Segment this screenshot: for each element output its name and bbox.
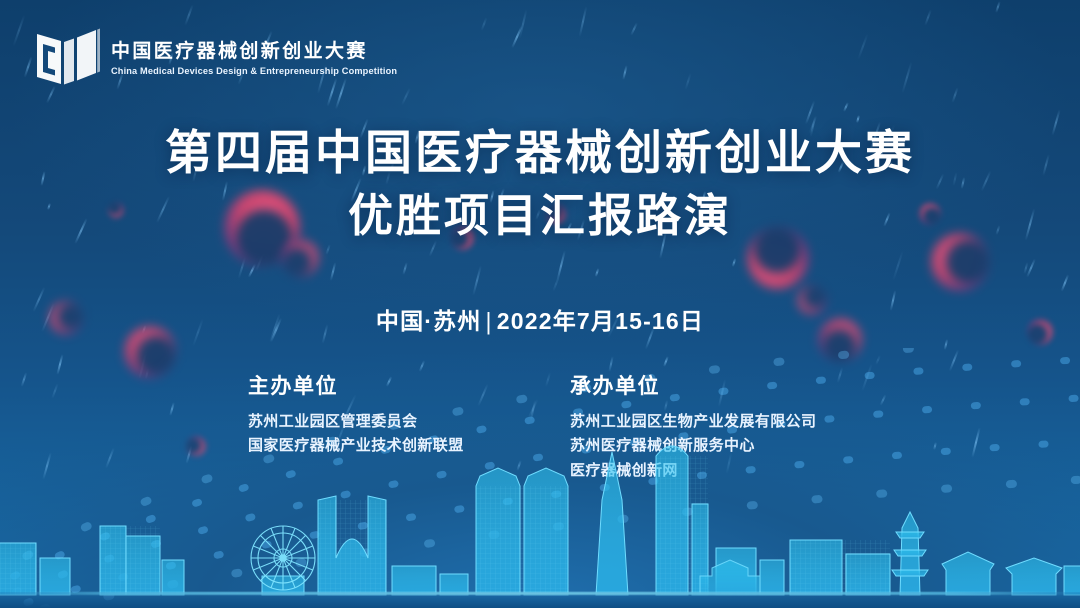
light-streak: [856, 115, 860, 123]
light-streak: [472, 265, 482, 296]
light-streak: [1024, 262, 1029, 274]
light-streak: [518, 9, 527, 39]
light-streak: [684, 73, 691, 90]
light-streak: [329, 262, 336, 281]
light-streak: [843, 102, 849, 112]
light-streak: [951, 87, 958, 103]
bottom-glow: [0, 592, 1080, 608]
organizer-heading: 承办单位: [570, 370, 850, 400]
light-streak: [995, 1, 1000, 13]
light-streak: [892, 250, 903, 280]
light-streak: [255, 241, 269, 271]
light-streak: [24, 56, 33, 78]
light-streak: [238, 257, 247, 280]
light-streak: [804, 100, 815, 125]
light-streak: [248, 264, 256, 278]
light-streak: [556, 250, 566, 282]
event-poster: 中国医疗器械创新创业大赛 China Medical Devices Desig…: [0, 0, 1080, 608]
light-streak: [1026, 259, 1036, 278]
open-book-door-logo-icon: [34, 28, 100, 90]
light-streak: [578, 6, 587, 37]
competition-logo: 中国医疗器械创新创业大赛 China Medical Devices Desig…: [34, 28, 406, 90]
event-date-location: 中国·苏州|2022年7月15-16日: [0, 302, 1080, 336]
light-streak: [402, 262, 408, 275]
light-streak: [595, 268, 600, 278]
organizer-heading: 主办单位: [248, 370, 540, 400]
logo-title-cn: 中国医疗器械创新创业大赛: [111, 41, 406, 63]
light-streak: [857, 34, 868, 60]
event-separator: |: [486, 307, 493, 335]
event-location: 中国·苏州: [376, 308, 482, 334]
logo-title-en: China Medical Devices Design & Entrepren…: [111, 66, 397, 77]
light-streak: [13, 15, 26, 47]
light-streak: [326, 244, 332, 255]
light-streak: [184, 5, 193, 26]
title-line-1: 第四届中国医疗器械创新创业大赛: [0, 124, 1080, 181]
light-streak: [924, 9, 932, 26]
ferris-wheel-icon: [251, 526, 315, 590]
light-streak: [901, 61, 912, 93]
event-date: 2022年7月15-16日: [497, 308, 704, 334]
light-streak: [732, 258, 737, 267]
light-streak: [480, 17, 487, 31]
light-streak: [1061, 274, 1069, 291]
light-streak: [552, 276, 560, 292]
light-streak: [623, 65, 628, 80]
light-streak: [511, 25, 523, 48]
light-streak: [630, 22, 638, 36]
title-line-2: 优胜项目汇报路演: [0, 189, 1080, 244]
page-title: 第四届中国医疗器械创新创业大赛 优胜项目汇报路演: [0, 124, 1080, 244]
suzhou-city-skyline: [0, 408, 1080, 608]
